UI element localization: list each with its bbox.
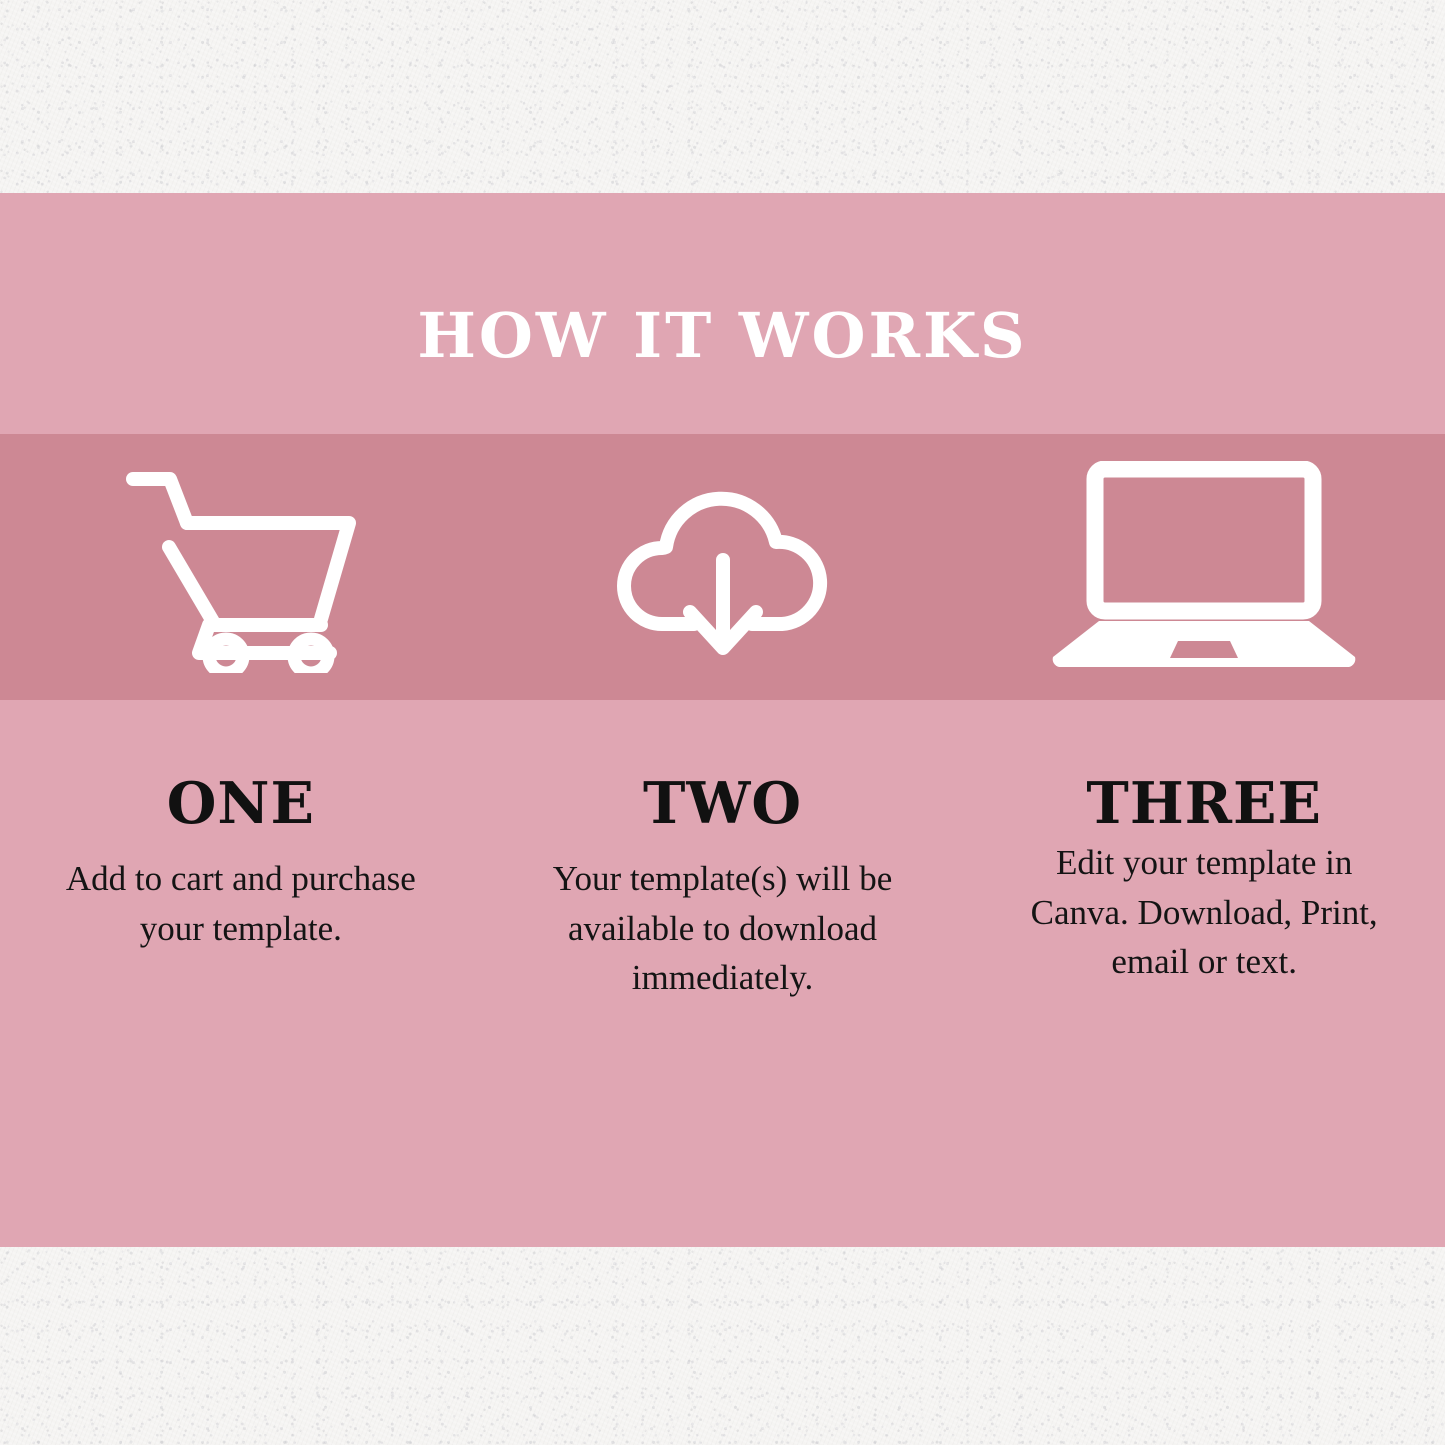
step-body-one: Add to cart and purchase your template. [36, 854, 446, 953]
step-heading-three: THREE [963, 774, 1445, 834]
steps-band: ONE Add to cart and purchase your templa… [0, 700, 1445, 1247]
icon-cell-one [0, 434, 482, 700]
step-heading-one: ONE [0, 774, 482, 834]
title-band: HOW IT WORKS [0, 193, 1445, 434]
laptop-icon [1045, 461, 1363, 673]
icon-band [0, 434, 1445, 700]
step-heading-two: TWO [482, 774, 964, 834]
step-body-two: Your template(s) will be available to do… [523, 854, 923, 1003]
step-column-three: THREE Edit your template in Canva. Downl… [963, 700, 1445, 987]
how-it-works-graphic: HOW IT WORKS [0, 193, 1445, 1247]
step-body-three: Edit your template in Canva. Download, P… [1009, 838, 1399, 987]
cloud-download-icon [616, 464, 830, 670]
page-title: HOW IT WORKS [0, 305, 1445, 367]
shopping-cart-icon [125, 461, 357, 673]
icon-cell-three [963, 434, 1445, 700]
step-column-two: TWO Your template(s) will be available t… [482, 700, 964, 1003]
icon-cell-two [482, 434, 964, 700]
step-column-one: ONE Add to cart and purchase your templa… [0, 700, 482, 953]
